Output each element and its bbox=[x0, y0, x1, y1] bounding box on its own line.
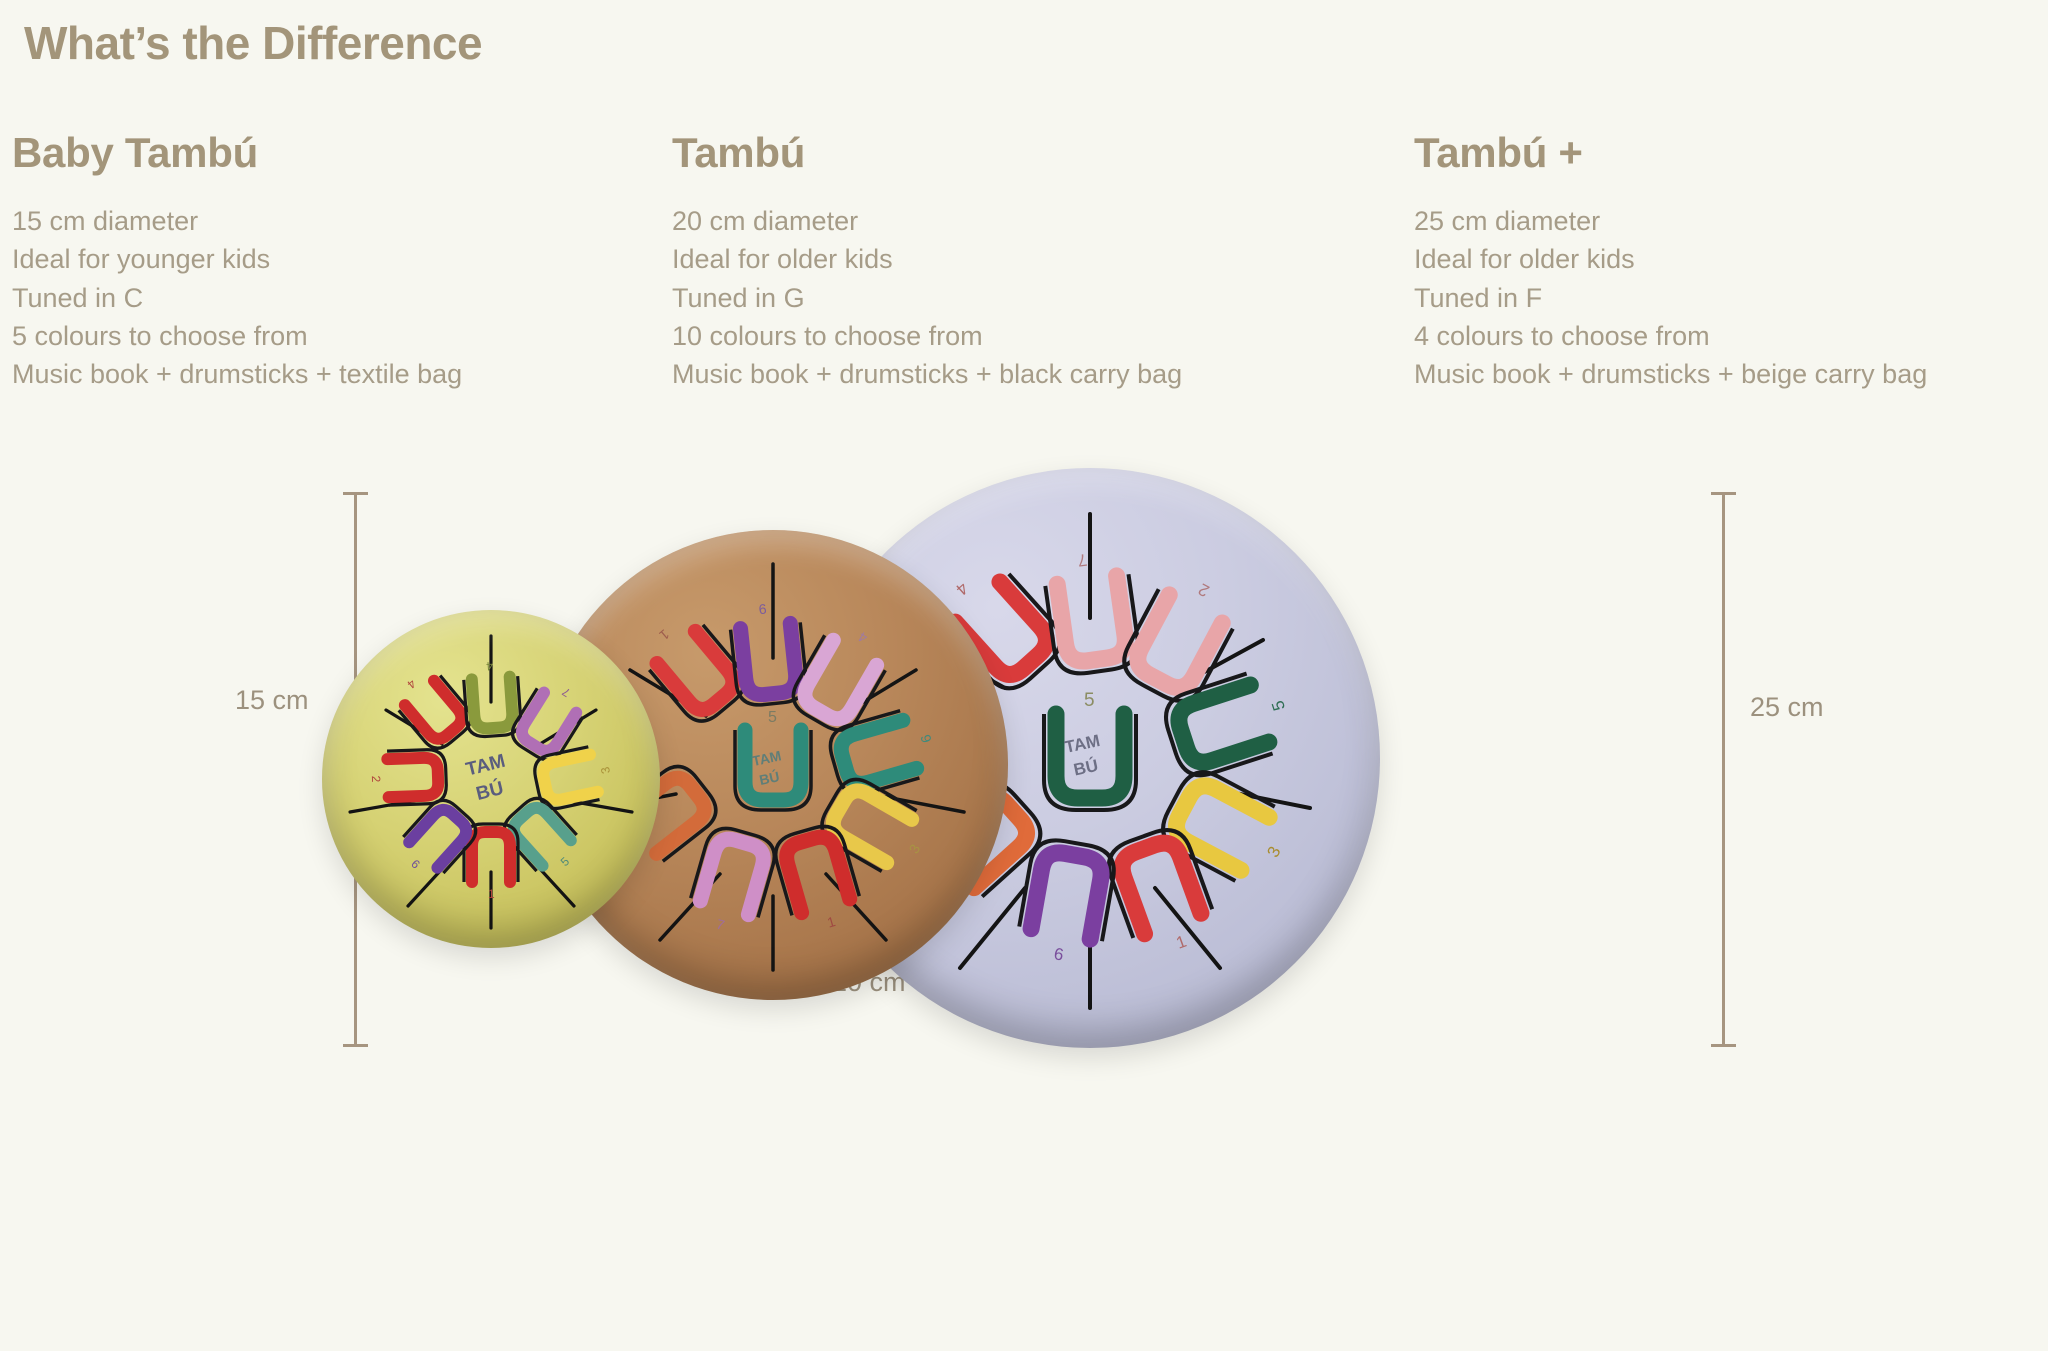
column-title-tambu: Tambú bbox=[672, 132, 1182, 174]
column-line: Music book + drumsticks + textile bag bbox=[12, 355, 462, 393]
product-column-baby-tambu: Baby Tambú 15 cm diameter Ideal for youn… bbox=[12, 132, 462, 394]
column-line: Music book + drumsticks + beige carry ba… bbox=[1414, 355, 1927, 393]
product-size-illustration: 15 cm 25 cm 20 cm bbox=[0, 430, 2048, 1351]
baby-tambu-drum-rim bbox=[322, 610, 660, 948]
page-root: What’s the Difference Baby Tambú 15 cm d… bbox=[0, 0, 2048, 1351]
column-title-tambu-plus: Tambú + bbox=[1414, 132, 1927, 174]
column-line: Ideal for older kids bbox=[1414, 240, 1927, 278]
dim-line-25cm bbox=[1722, 492, 1725, 1047]
baby-tambu-drum[interactable]: 4 4 7 3 bbox=[322, 610, 660, 948]
column-line: 10 colours to choose from bbox=[672, 317, 1182, 355]
column-line: Tuned in F bbox=[1414, 279, 1927, 317]
column-line: 25 cm diameter bbox=[1414, 202, 1927, 240]
column-line: Ideal for older kids bbox=[672, 240, 1182, 278]
column-line: Ideal for younger kids bbox=[12, 240, 462, 278]
column-title-baby-tambu: Baby Tambú bbox=[12, 132, 462, 174]
product-column-tambu: Tambú 20 cm diameter Ideal for older kid… bbox=[672, 132, 1182, 394]
dim-cap-bottom-25cm bbox=[1711, 1044, 1736, 1047]
column-line: 4 colours to choose from bbox=[1414, 317, 1927, 355]
column-line: Tuned in C bbox=[12, 279, 462, 317]
product-column-tambu-plus: Tambú + 25 cm diameter Ideal for older k… bbox=[1414, 132, 1927, 394]
column-line: Music book + drumsticks + black carry ba… bbox=[672, 355, 1182, 393]
column-line: 15 cm diameter bbox=[12, 202, 462, 240]
column-line: 20 cm diameter bbox=[672, 202, 1182, 240]
dim-label-15cm: 15 cm bbox=[235, 685, 309, 716]
dim-label-25cm: 25 cm bbox=[1750, 692, 1824, 723]
column-line: 5 colours to choose from bbox=[12, 317, 462, 355]
page-title: What’s the Difference bbox=[24, 16, 482, 70]
dim-cap-bottom-15cm bbox=[343, 1044, 368, 1047]
column-line: Tuned in G bbox=[672, 279, 1182, 317]
